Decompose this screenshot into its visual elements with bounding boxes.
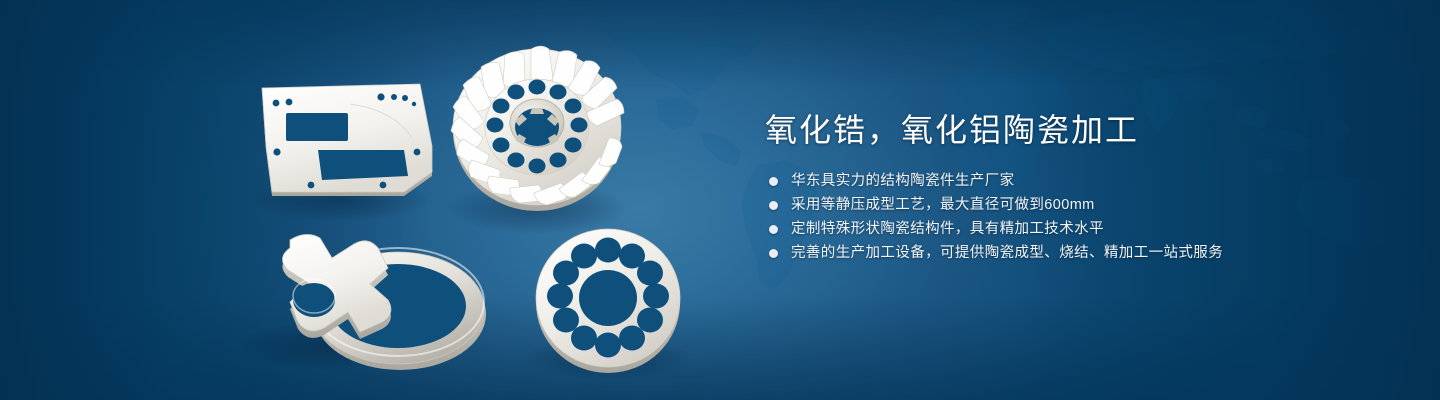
page-title: 氧化锆，氧化铝陶瓷加工	[765, 108, 1365, 152]
feature-text: 定制特殊形状陶瓷结构件，具有精加工技术水平	[791, 222, 1104, 237]
ceramic-impeller-shape	[451, 46, 624, 211]
feature-list: 华东具实力的结构陶瓷件生产厂家 采用等静压成型工艺，最大直径可做到600mm 定…	[769, 174, 1365, 261]
ceramic-cross-vane-shape	[282, 234, 390, 339]
bullet-dot-icon	[769, 225, 778, 234]
list-item: 华东具实力的结构陶瓷件生产厂家	[769, 174, 1365, 189]
bullet-dot-icon	[769, 249, 778, 258]
feature-text: 华东具实力的结构陶瓷件生产厂家	[791, 174, 1015, 189]
feature-text: 采用等静压成型工艺，最大直径可做到600mm	[791, 198, 1095, 213]
list-item: 完善的生产加工设备，可提供陶瓷成型、烧结、精加工一站式服务	[769, 246, 1365, 261]
list-item: 采用等静压成型工艺，最大直径可做到600mm	[769, 198, 1365, 213]
ceramic-products-image	[0, 0, 740, 400]
list-item: 定制特殊形状陶瓷结构件，具有精加工技术水平	[769, 222, 1365, 237]
bullet-dot-icon	[769, 201, 778, 210]
ceramic-perforated-disc-shape	[536, 229, 680, 373]
bullet-dot-icon	[769, 177, 778, 186]
hero-banner: 氧化锆，氧化铝陶瓷加工 华东具实力的结构陶瓷件生产厂家 采用等静压成型工艺，最大…	[0, 0, 1440, 400]
ceramic-mounting-plate-shape	[262, 84, 432, 196]
banner-copy: 氧化锆，氧化铝陶瓷加工 华东具实力的结构陶瓷件生产厂家 采用等静压成型工艺，最大…	[765, 108, 1365, 261]
feature-text: 完善的生产加工设备，可提供陶瓷成型、烧结、精加工一站式服务	[791, 246, 1223, 261]
